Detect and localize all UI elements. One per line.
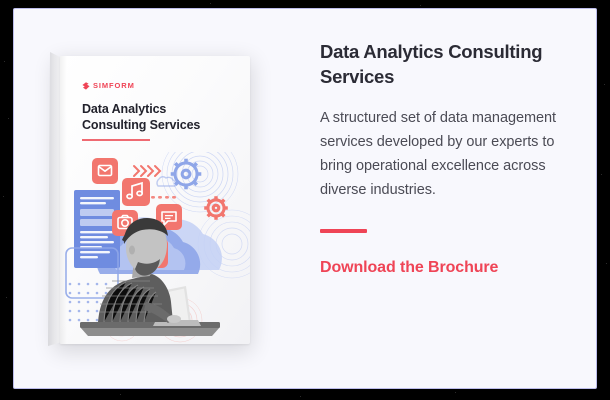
simform-logo-text: SIMFORM bbox=[93, 81, 135, 90]
background-speck bbox=[604, 84, 605, 85]
brochure-preview[interactable]: SIMFORM Data Analytics Consulting Servic… bbox=[14, 9, 304, 388]
background-speck bbox=[300, 396, 301, 397]
cloud-computing-illustration-icon bbox=[60, 152, 250, 344]
page-title: Data Analytics Consulting Services bbox=[320, 39, 570, 89]
background-speck bbox=[601, 174, 602, 175]
background-speck bbox=[6, 297, 7, 298]
music-icon-tile bbox=[122, 178, 150, 206]
screenshot-stage: SIMFORM Data Analytics Consulting Servic… bbox=[0, 0, 610, 400]
cover-title: Data Analytics Consulting Services bbox=[82, 101, 232, 133]
book-cover: SIMFORM Data Analytics Consulting Servic… bbox=[60, 56, 250, 344]
background-speck bbox=[4, 61, 5, 62]
background-speck bbox=[8, 118, 9, 119]
background-speck bbox=[420, 5, 421, 6]
download-brochure-link[interactable]: Download the Brochure bbox=[320, 259, 498, 277]
background-speck bbox=[120, 394, 121, 395]
gear-icon bbox=[204, 196, 228, 220]
simform-diamond-logo-icon bbox=[82, 82, 90, 90]
mail-icon-tile bbox=[92, 158, 118, 184]
description-text: A structured set of data management serv… bbox=[320, 106, 570, 202]
content-card: SIMFORM Data Analytics Consulting Servic… bbox=[13, 8, 597, 389]
background-speck bbox=[210, 3, 211, 4]
cover-title-rule bbox=[82, 139, 150, 141]
background-speck bbox=[455, 392, 456, 393]
background-speck bbox=[606, 263, 607, 264]
accent-divider bbox=[320, 229, 367, 233]
simform-logo: SIMFORM bbox=[82, 81, 135, 90]
background-speck bbox=[3, 196, 4, 197]
info-panel: Data Analytics Consulting Services A str… bbox=[317, 9, 597, 388]
brochure-book[interactable]: SIMFORM Data Analytics Consulting Servic… bbox=[48, 50, 250, 348]
cover-illustration bbox=[60, 152, 250, 344]
chevrons-icon bbox=[134, 166, 160, 176]
